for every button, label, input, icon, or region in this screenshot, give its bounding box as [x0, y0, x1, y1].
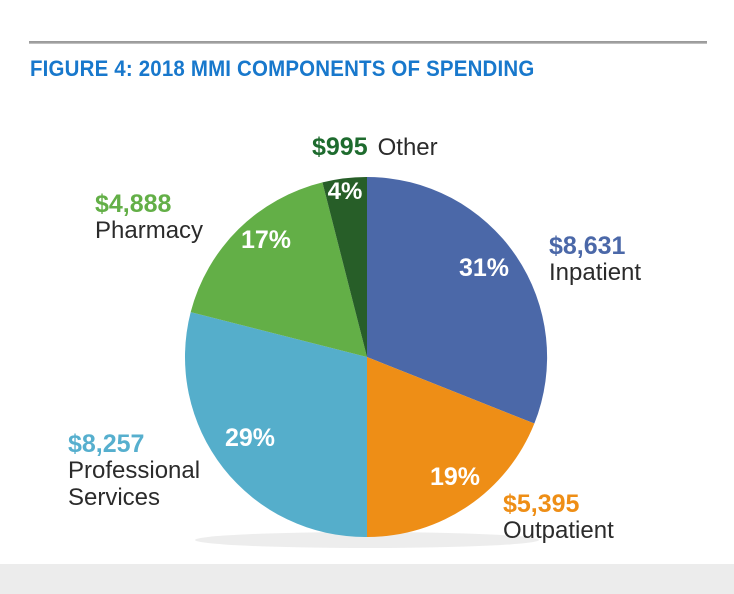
pie-percent-professional-services: 29%: [225, 424, 275, 452]
pie-percent-pharmacy: 17%: [241, 226, 291, 254]
callout-other: $995Other: [312, 133, 438, 162]
callout-professional-services: $8,257 Professional Services: [68, 430, 200, 512]
pie-percent-other: 4%: [328, 178, 363, 205]
callout-inpatient-category: Inpatient: [549, 260, 641, 287]
callout-outpatient-category: Outpatient: [503, 518, 614, 545]
callout-inpatient: $8,631 Inpatient: [549, 232, 641, 287]
callout-pharmacy-amount: $4,888: [95, 190, 203, 218]
callout-pharmacy: $4,888 Pharmacy: [95, 190, 203, 245]
pie-percent-outpatient: 19%: [430, 463, 480, 491]
pie-percent-inpatient: 31%: [459, 254, 509, 282]
callout-professional-services-amount: $8,257: [68, 430, 200, 458]
callout-other-amount: $995: [312, 133, 368, 161]
callout-professional-services-category-line2: Services: [68, 485, 200, 512]
callout-professional-services-category-line1: Professional: [68, 458, 200, 485]
page-footer-strip: [0, 564, 734, 594]
callout-outpatient-amount: $5,395: [503, 490, 614, 518]
figure-container: FIGURE 4: 2018 MMI COMPONENTS OF SPENDIN…: [0, 0, 734, 594]
callout-other-category: Other: [378, 135, 438, 162]
callout-pharmacy-category: Pharmacy: [95, 218, 203, 245]
callout-outpatient: $5,395 Outpatient: [503, 490, 614, 545]
callout-inpatient-amount: $8,631: [549, 232, 641, 260]
